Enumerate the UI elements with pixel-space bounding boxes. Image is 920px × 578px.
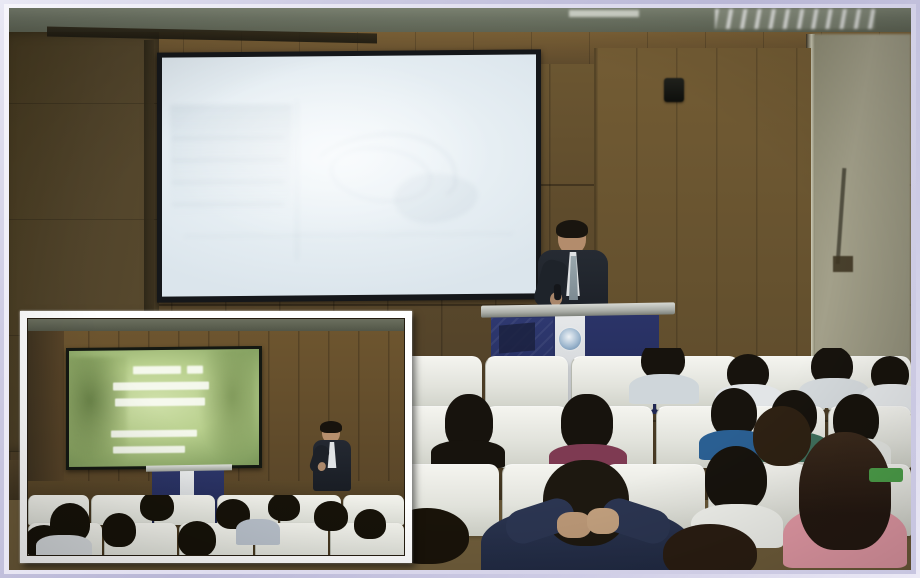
attendee xyxy=(557,394,619,464)
slide-ghost-lines xyxy=(172,119,284,206)
inset-presenter xyxy=(312,423,352,491)
attendee-hands-behind-head xyxy=(481,460,691,570)
attendee xyxy=(635,348,691,400)
inset-attendee-head xyxy=(268,495,300,521)
attendee-head xyxy=(753,406,811,466)
attendee-left-hand xyxy=(557,512,591,538)
attendee-shoulders xyxy=(629,374,699,404)
main-photograph xyxy=(9,8,911,570)
inset-slide-bullet xyxy=(111,430,197,438)
audience-seating xyxy=(399,348,911,570)
inset-attendee-shoulders xyxy=(236,519,280,545)
ceiling-light-icon xyxy=(715,9,875,29)
wall-plate xyxy=(833,256,853,272)
inset-attendee-shoulders xyxy=(36,535,92,556)
projection-screen xyxy=(157,49,541,302)
inset-attendee-head xyxy=(314,501,348,531)
inset-slide-bullet xyxy=(115,398,205,407)
projection-screen-surface xyxy=(162,54,536,296)
screenshot-root xyxy=(0,0,920,578)
inset-attendee-head xyxy=(178,521,216,556)
inset-slide-title-text-2 xyxy=(187,366,203,374)
inset-audience-seating xyxy=(28,495,404,556)
inset-screen-surface xyxy=(69,349,259,467)
presenter-hair xyxy=(556,220,588,238)
inset-photo-frame[interactable] xyxy=(20,311,412,563)
inset-attendee-head xyxy=(102,513,136,547)
seat-accent xyxy=(869,468,903,482)
slide-ghost-blob xyxy=(394,173,478,224)
doorway-light xyxy=(811,34,911,364)
inset-slide-bullet xyxy=(113,446,185,454)
attendee xyxy=(441,394,497,460)
inset-attendee-head xyxy=(140,495,174,521)
wall-speaker-icon xyxy=(664,78,684,102)
inset-attendee-head xyxy=(354,509,386,539)
inset-presenter-hair xyxy=(320,421,342,433)
seat xyxy=(485,356,568,410)
inset-photograph xyxy=(27,318,405,556)
inset-left-wall xyxy=(28,331,64,483)
attendee xyxy=(663,524,763,570)
podium-emblem-icon xyxy=(559,328,581,350)
inset-slide-title-text xyxy=(133,366,181,375)
inset-slide-foliage-right xyxy=(197,349,255,467)
microphone-icon xyxy=(554,284,562,300)
attendee-right-hand xyxy=(587,508,619,534)
attendee xyxy=(749,406,819,486)
inset-projection-screen xyxy=(66,346,262,470)
inset-slide-bullet xyxy=(113,382,209,391)
slide-ghost-baseline xyxy=(184,233,514,238)
ceiling-light-small-icon xyxy=(569,10,639,17)
attendee-head xyxy=(663,524,757,570)
